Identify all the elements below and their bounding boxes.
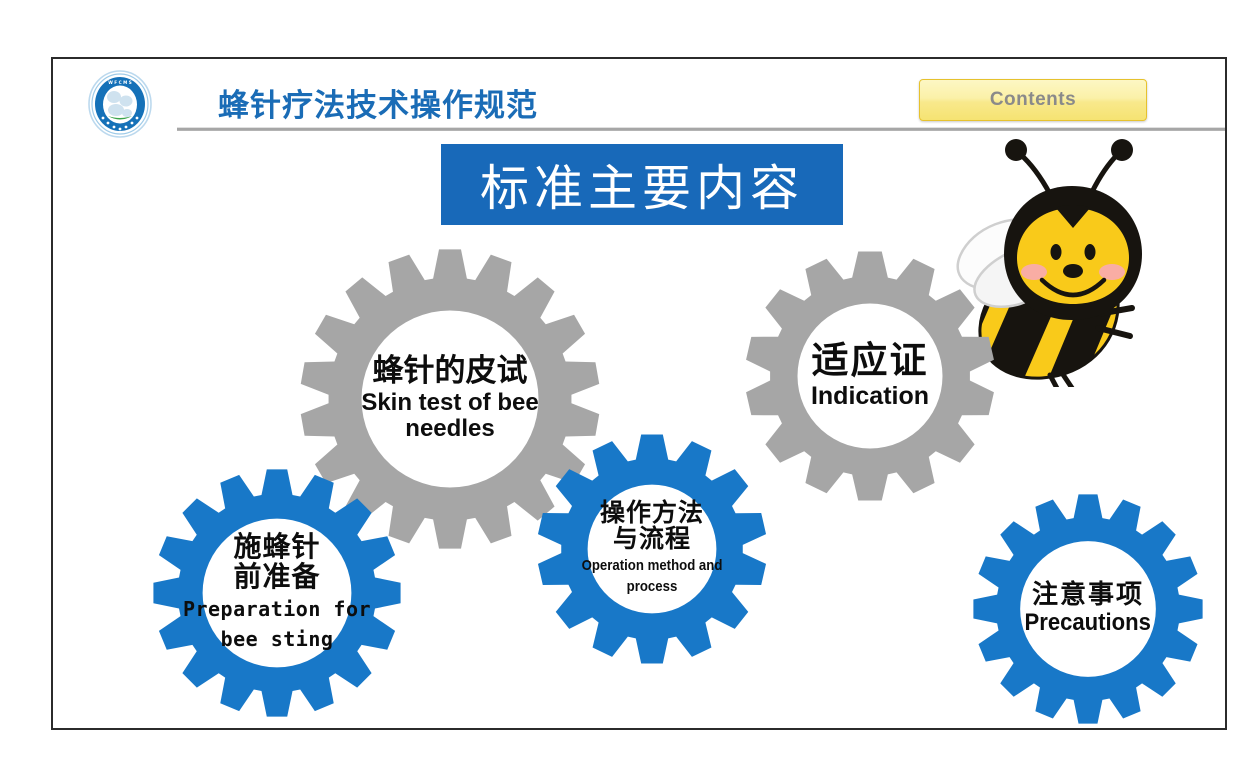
main-title-banner: 标准主要内容 <box>441 144 843 225</box>
presentation-slide: W F C M S 蜂针疗法技术操作规范 Contents 标准主要内容 <box>51 57 1227 730</box>
contents-button[interactable]: Contents <box>919 79 1147 121</box>
gear-preparation[interactable]: 施蜂针 前准备 Preparation for bee sting <box>153 469 401 717</box>
contents-button-label: Contents <box>990 89 1076 111</box>
wfcms-emblem-logo: W F C M S <box>86 70 154 138</box>
gear-indication[interactable]: 适应证 Indication <box>745 251 995 501</box>
gear-operation-method[interactable]: 操作方法 与流程 Operation method and process <box>537 434 767 664</box>
page-title: 蜂针疗法技术操作规范 <box>218 80 538 125</box>
header-divider <box>177 127 1225 131</box>
main-title-text: 标准主要内容 <box>480 149 804 220</box>
gear-precautions[interactable]: 注意事项 Precautions <box>973 494 1203 724</box>
slide-header: W F C M S 蜂针疗法技术操作规范 Contents <box>53 59 1225 131</box>
svg-text:W F C M S: W F C M S <box>108 80 132 85</box>
